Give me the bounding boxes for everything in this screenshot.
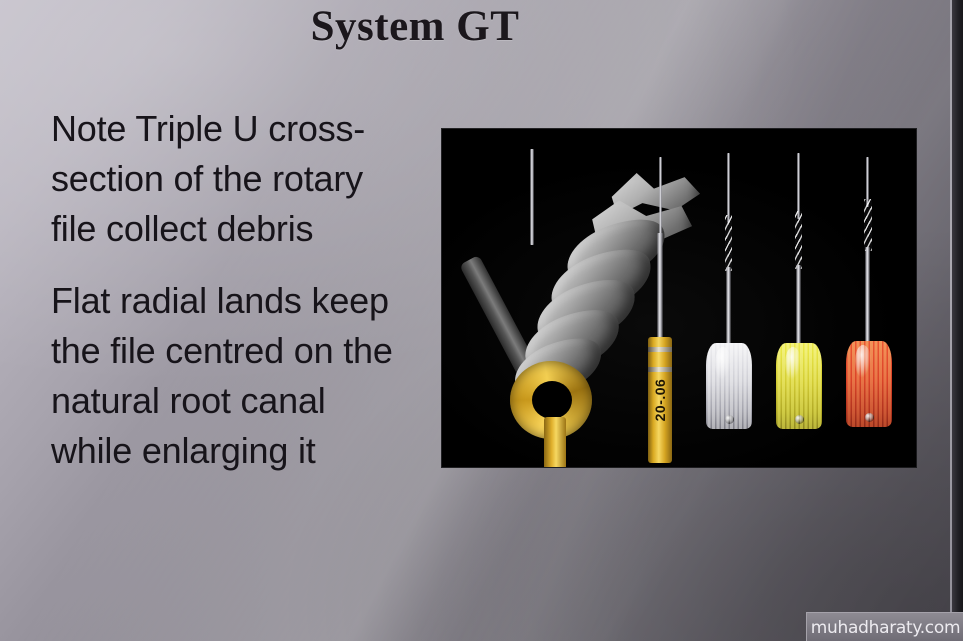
gt-file-orange-shaft	[865, 247, 870, 345]
gt-file-white-handle-nub	[725, 415, 734, 424]
watermark-text: muhadharaty.com	[811, 618, 960, 638]
gt-file-white-handle-gloss	[715, 347, 731, 380]
gt-file-yellow-handle	[776, 343, 822, 429]
gt-file-gold-size-label: 20-.06	[652, 379, 668, 422]
gt-file-white-shaft	[726, 267, 731, 347]
rotary-file-photo: 20-.06	[442, 129, 916, 467]
gt-file-gold-band-2	[648, 367, 672, 372]
gt-file-yellow-shaft	[796, 265, 801, 347]
gt-file-orange-handle-gloss	[855, 345, 871, 378]
slide-title: System GT	[0, 2, 830, 51]
gt-file-gold-shaft	[657, 233, 663, 343]
gt-file-white-flutes	[725, 215, 732, 271]
magnified-rotary-file	[492, 171, 732, 431]
gt-file-orange-handle-nub	[865, 413, 874, 422]
magnified-file-gold-stub	[544, 417, 566, 467]
gt-file-gold-tip	[659, 157, 662, 237]
watermark-badge: muhadharaty.com	[806, 612, 963, 641]
body-paragraph-2: Flat radial lands keep the file centred …	[51, 276, 401, 476]
slide-right-edge-shadow	[952, 0, 963, 641]
body-paragraph-1: Note Triple U cross-section of the rotar…	[51, 104, 401, 254]
gt-file-gold-band-1	[648, 347, 672, 352]
gt-file-white-tip	[727, 153, 730, 223]
gt-file-orange-handle	[846, 341, 892, 427]
gt-file-white-handle	[706, 343, 752, 429]
gt-file-yellow-tip	[797, 153, 800, 219]
gt-file-yellow-handle-gloss	[785, 347, 801, 380]
presentation-slide: System GT Note Triple U cross-section of…	[0, 0, 963, 641]
gt-file-gold-handle: 20-.06	[648, 337, 672, 463]
magnified-file-shaft	[530, 149, 534, 245]
slide-body-text: Note Triple U cross-section of the rotar…	[51, 104, 401, 476]
gt-file-yellow-flutes	[795, 211, 802, 269]
gt-file-orange-flutes	[864, 199, 872, 251]
gt-file-yellow-handle-nub	[795, 415, 804, 424]
